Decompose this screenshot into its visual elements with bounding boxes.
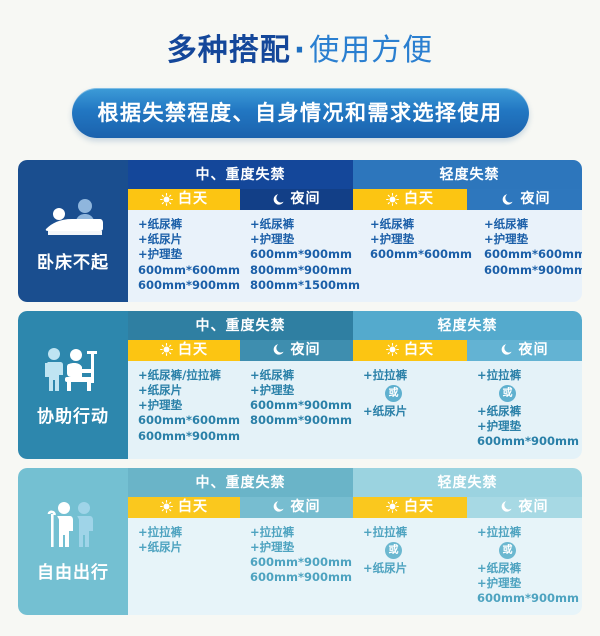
cell-line: +纸尿裤 [484, 217, 582, 232]
or-badge-line: 或 [477, 540, 582, 561]
severity-mild-header: 轻度失禁 [353, 311, 582, 340]
severity-moderate-header: 中、重度失禁 [128, 311, 353, 340]
cell-line: 600mm*900mm [250, 247, 360, 262]
table-block-bedridden: 卧床不起 中、重度失禁 轻度失禁 白天 夜间 [18, 160, 582, 302]
severity-moderate-header: 中、重度失禁 [128, 160, 353, 189]
tod-label: 夜间 [520, 192, 550, 206]
sun-icon [386, 500, 399, 513]
cell-mild-day: +纸尿裤+护理垫600mm*600mm [360, 210, 474, 302]
tod-label: 夜间 [519, 500, 549, 514]
tod-label: 夜间 [291, 192, 321, 206]
block-icon-mobile: 自由出行 [18, 468, 128, 616]
page-title-separator: · [291, 33, 309, 68]
cell-line: +护理垫 [138, 247, 240, 262]
or-badge-line: 或 [477, 383, 582, 404]
subtitle-pill: 根据失禁程度、自身情况和需求选择使用 [72, 88, 529, 138]
cell-line: +护理垫 [250, 383, 353, 398]
severity-moderate-header: 中、重度失禁 [128, 468, 353, 497]
tod-mild-day: 白天 [353, 497, 467, 518]
block-label: 自由出行 [37, 558, 109, 583]
cell-moderate-night: +拉拉裤+护理垫600mm*900mm600mm*900mm [240, 518, 353, 616]
cell-line: 600mm*600mm [138, 413, 240, 428]
cell-line: +拉拉裤 [477, 525, 582, 540]
tod-mild-night: 夜间 [467, 497, 582, 518]
cell-moderate-night: +纸尿裤+护理垫600mm*900mm800mm*900mm800mm*1500… [240, 210, 360, 302]
cell-line: 600mm*600mm [370, 247, 474, 262]
page-title-light: 使用方便 [309, 33, 433, 68]
tod-mild-day: 白天 [353, 189, 467, 210]
tod-label: 夜间 [519, 343, 549, 357]
cell-line: +护理垫 [477, 419, 582, 434]
sun-icon [160, 343, 173, 356]
cell-mild-day: +拉拉裤或+纸尿片 [353, 361, 467, 459]
table-row: +纸尿裤+纸尿片+护理垫600mm*600mm600mm*900mm +纸尿裤+… [128, 210, 582, 302]
sun-icon [386, 193, 399, 206]
cell-moderate-day: +拉拉裤+纸尿片 [128, 518, 240, 616]
sun-icon [160, 193, 173, 206]
table-row: +纸尿裤/拉拉裤+纸尿片+护理垫600mm*600mm600mm*900mm +… [128, 361, 582, 459]
tod-mild-day: 白天 [353, 340, 467, 361]
tod-label: 白天 [404, 192, 434, 206]
block-table: 中、重度失禁 轻度失禁 白天 夜间 [128, 468, 582, 616]
cell-line: +纸尿片 [138, 383, 240, 398]
cell-line: +护理垫 [477, 576, 582, 591]
or-badge: 或 [385, 542, 402, 559]
or-badge: 或 [385, 385, 402, 402]
moon-icon [501, 343, 514, 356]
time-of-day-header-row: 白天 夜间 白天 夜间 [128, 497, 582, 518]
moon-icon [273, 500, 286, 513]
cell-line: +护理垫 [250, 540, 353, 555]
severity-header-row: 中、重度失禁 轻度失禁 [128, 160, 582, 189]
cell-line: +护理垫 [138, 398, 240, 413]
cell-moderate-day: +纸尿裤+纸尿片+护理垫600mm*600mm600mm*900mm [128, 210, 240, 302]
tod-label: 白天 [178, 192, 208, 206]
tod-moderate-day: 白天 [128, 497, 240, 518]
severity-header-row: 中、重度失禁 轻度失禁 [128, 468, 582, 497]
block-icon-assisted: 协助行动 [18, 311, 128, 459]
cell-line: +纸尿裤 [138, 217, 240, 232]
cell-mild-night: +拉拉裤或+纸尿裤+护理垫600mm*900mm [467, 518, 582, 616]
cell-line: 600mm*900mm [138, 278, 240, 293]
cell-moderate-day: +纸尿裤/拉拉裤+纸尿片+护理垫600mm*600mm600mm*900mm [128, 361, 240, 459]
cell-line: 600mm*900mm [250, 398, 353, 413]
moon-icon [273, 193, 286, 206]
cell-line: 600mm*900mm [477, 434, 582, 449]
cell-line: +纸尿裤 [250, 368, 353, 383]
time-of-day-header-row: 白天 夜间 白天 夜间 [128, 340, 582, 361]
tod-label: 白天 [404, 343, 434, 357]
tod-mild-night: 夜间 [467, 340, 582, 361]
tod-moderate-night: 夜间 [240, 340, 353, 361]
or-badge-line: 或 [363, 540, 467, 561]
cell-line: 600mm*900mm [138, 429, 240, 444]
or-badge: 或 [499, 385, 516, 402]
comparison-table: 卧床不起 中、重度失禁 轻度失禁 白天 夜间 [18, 160, 582, 615]
sun-icon [386, 343, 399, 356]
bedridden-person-icon [42, 187, 104, 239]
cell-line: +拉拉裤 [138, 525, 240, 540]
page-title-strong: 多种搭配 [167, 33, 291, 68]
table-row: +拉拉裤+纸尿片 +拉拉裤+护理垫600mm*900mm600mm*900mm … [128, 518, 582, 616]
moon-icon [501, 500, 514, 513]
block-table: 中、重度失禁 轻度失禁 白天 夜间 [128, 160, 582, 302]
tod-moderate-night: 夜间 [240, 497, 353, 518]
cell-line: +纸尿裤 [477, 561, 582, 576]
severity-header-row: 中、重度失禁 轻度失禁 [128, 311, 582, 340]
cell-line: +纸尿裤 [477, 404, 582, 419]
cell-line: 800mm*900mm [250, 263, 360, 278]
tod-moderate-day: 白天 [128, 189, 240, 210]
cell-line: 600mm*900mm [477, 591, 582, 606]
moon-icon [273, 343, 286, 356]
cell-line: +纸尿裤 [370, 217, 474, 232]
table-block-assisted: 协助行动 中、重度失禁 轻度失禁 白天 夜间 [18, 311, 582, 459]
severity-mild-header: 轻度失禁 [353, 160, 582, 189]
moon-icon [502, 193, 515, 206]
cell-line: +拉拉裤 [477, 368, 582, 383]
cell-line: +纸尿片 [363, 404, 467, 419]
cell-line: 600mm*900mm [250, 555, 353, 570]
block-label: 卧床不起 [37, 248, 109, 273]
cell-moderate-night: +纸尿裤+护理垫600mm*900mm800mm*900mm [240, 361, 353, 459]
cell-line: 600mm*900mm [484, 263, 582, 278]
table-block-mobile: 自由出行 中、重度失禁 轻度失禁 白天 夜间 [18, 468, 582, 616]
cell-mild-night: +拉拉裤或+纸尿裤+护理垫600mm*900mm [467, 361, 582, 459]
tod-moderate-night: 夜间 [240, 189, 353, 210]
cell-line: +护理垫 [484, 232, 582, 247]
cell-line: +纸尿裤/拉拉裤 [138, 368, 240, 383]
severity-mild-header: 轻度失禁 [353, 468, 582, 497]
cell-line: +拉拉裤 [363, 525, 467, 540]
block-label: 协助行动 [37, 402, 109, 427]
walking-elderly-icon [45, 497, 101, 549]
or-badge-line: 或 [363, 383, 467, 404]
cell-mild-day: +拉拉裤或+纸尿片 [353, 518, 467, 616]
tod-moderate-day: 白天 [128, 340, 240, 361]
cell-mild-night: +纸尿裤+护理垫600mm*600mm600mm*900mm [474, 210, 582, 302]
cell-line: +拉拉裤 [250, 525, 353, 540]
cell-line: 600mm*600mm [484, 247, 582, 262]
tod-mild-night: 夜间 [467, 189, 582, 210]
cell-line: +纸尿片 [363, 561, 467, 576]
tod-label: 白天 [404, 500, 434, 514]
cell-line: 800mm*900mm [250, 413, 353, 428]
tod-label: 白天 [178, 343, 208, 357]
cell-line: +护理垫 [370, 232, 474, 247]
sun-icon [160, 500, 173, 513]
tod-label: 夜间 [291, 343, 321, 357]
cell-line: 600mm*900mm [250, 570, 353, 585]
cell-line: +拉拉裤 [363, 368, 467, 383]
tod-label: 白天 [178, 500, 208, 514]
or-badge: 或 [499, 542, 516, 559]
block-table: 中、重度失禁 轻度失禁 白天 夜间 [128, 311, 582, 459]
assisted-transfer-icon [41, 341, 105, 393]
cell-line: 600mm*600mm [138, 263, 240, 278]
cell-line: +纸尿片 [138, 540, 240, 555]
cell-line: 800mm*1500mm [250, 278, 360, 293]
block-icon-bedridden: 卧床不起 [18, 160, 128, 302]
tod-label: 夜间 [291, 500, 321, 514]
cell-line: +纸尿裤 [250, 217, 360, 232]
time-of-day-header-row: 白天 夜间 白天 夜间 [128, 189, 582, 210]
cell-line: +护理垫 [250, 232, 360, 247]
subtitle-container: 根据失禁程度、自身情况和需求选择使用 [0, 88, 600, 138]
cell-line: +纸尿片 [138, 232, 240, 247]
page-title: 多种搭配·使用方便 [0, 0, 600, 66]
